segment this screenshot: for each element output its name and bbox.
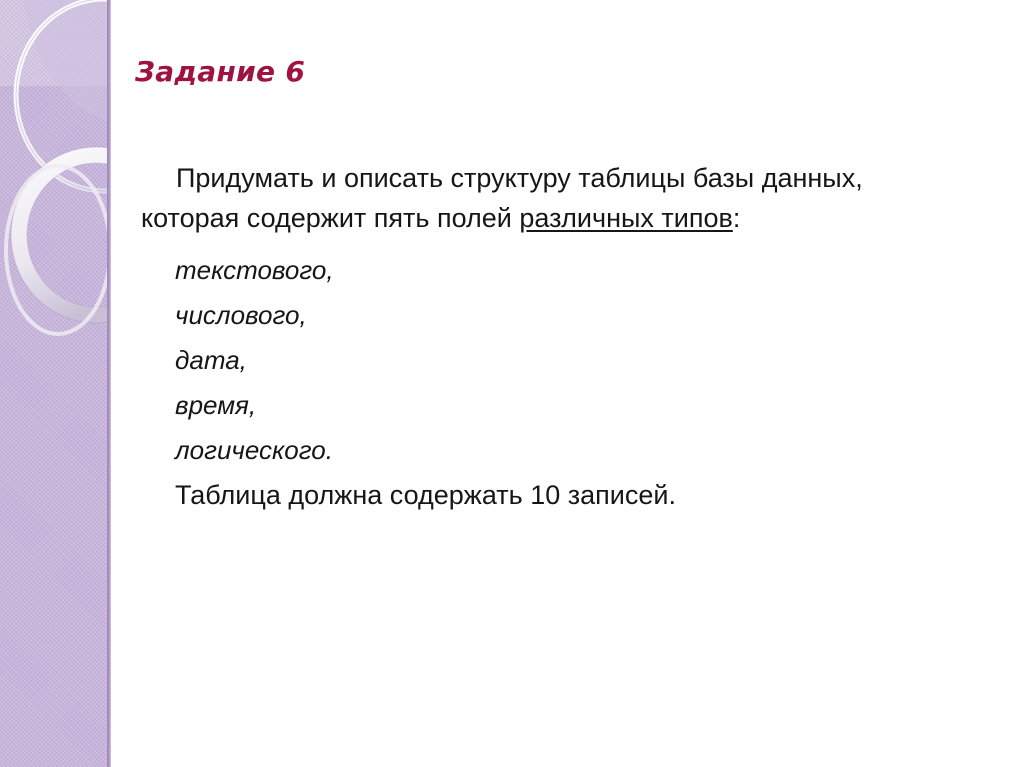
list-item: дата, <box>141 338 941 383</box>
sidebar-curve-tint <box>24 0 107 120</box>
list-item: текстового, <box>141 248 941 293</box>
list-item: числового, <box>141 293 941 338</box>
task-description-paragraph: Придумать и описать структуру таблицы ба… <box>141 158 941 238</box>
list-item: время, <box>141 383 941 428</box>
decorative-sidebar <box>0 0 112 767</box>
presentation-slide: Задание 6 Придумать и описать структуру … <box>0 0 1024 767</box>
list-item: логического. <box>141 428 941 473</box>
slide-body: Придумать и описать структуру таблицы ба… <box>141 158 941 515</box>
task-description-part2: : <box>733 203 741 233</box>
task-description-part1: Придумать и описать структуру таблицы ба… <box>141 163 863 233</box>
page-title: Задание 6 <box>135 55 305 88</box>
field-type-list: текстового, числового, дата, время, логи… <box>141 248 941 473</box>
sidebar-rings-decoration <box>0 0 112 767</box>
sidebar-right-edge <box>107 0 111 767</box>
task-description-underlined: различных типов <box>519 203 732 233</box>
record-count-line: Таблица должна содержать 10 записей. <box>141 475 941 515</box>
